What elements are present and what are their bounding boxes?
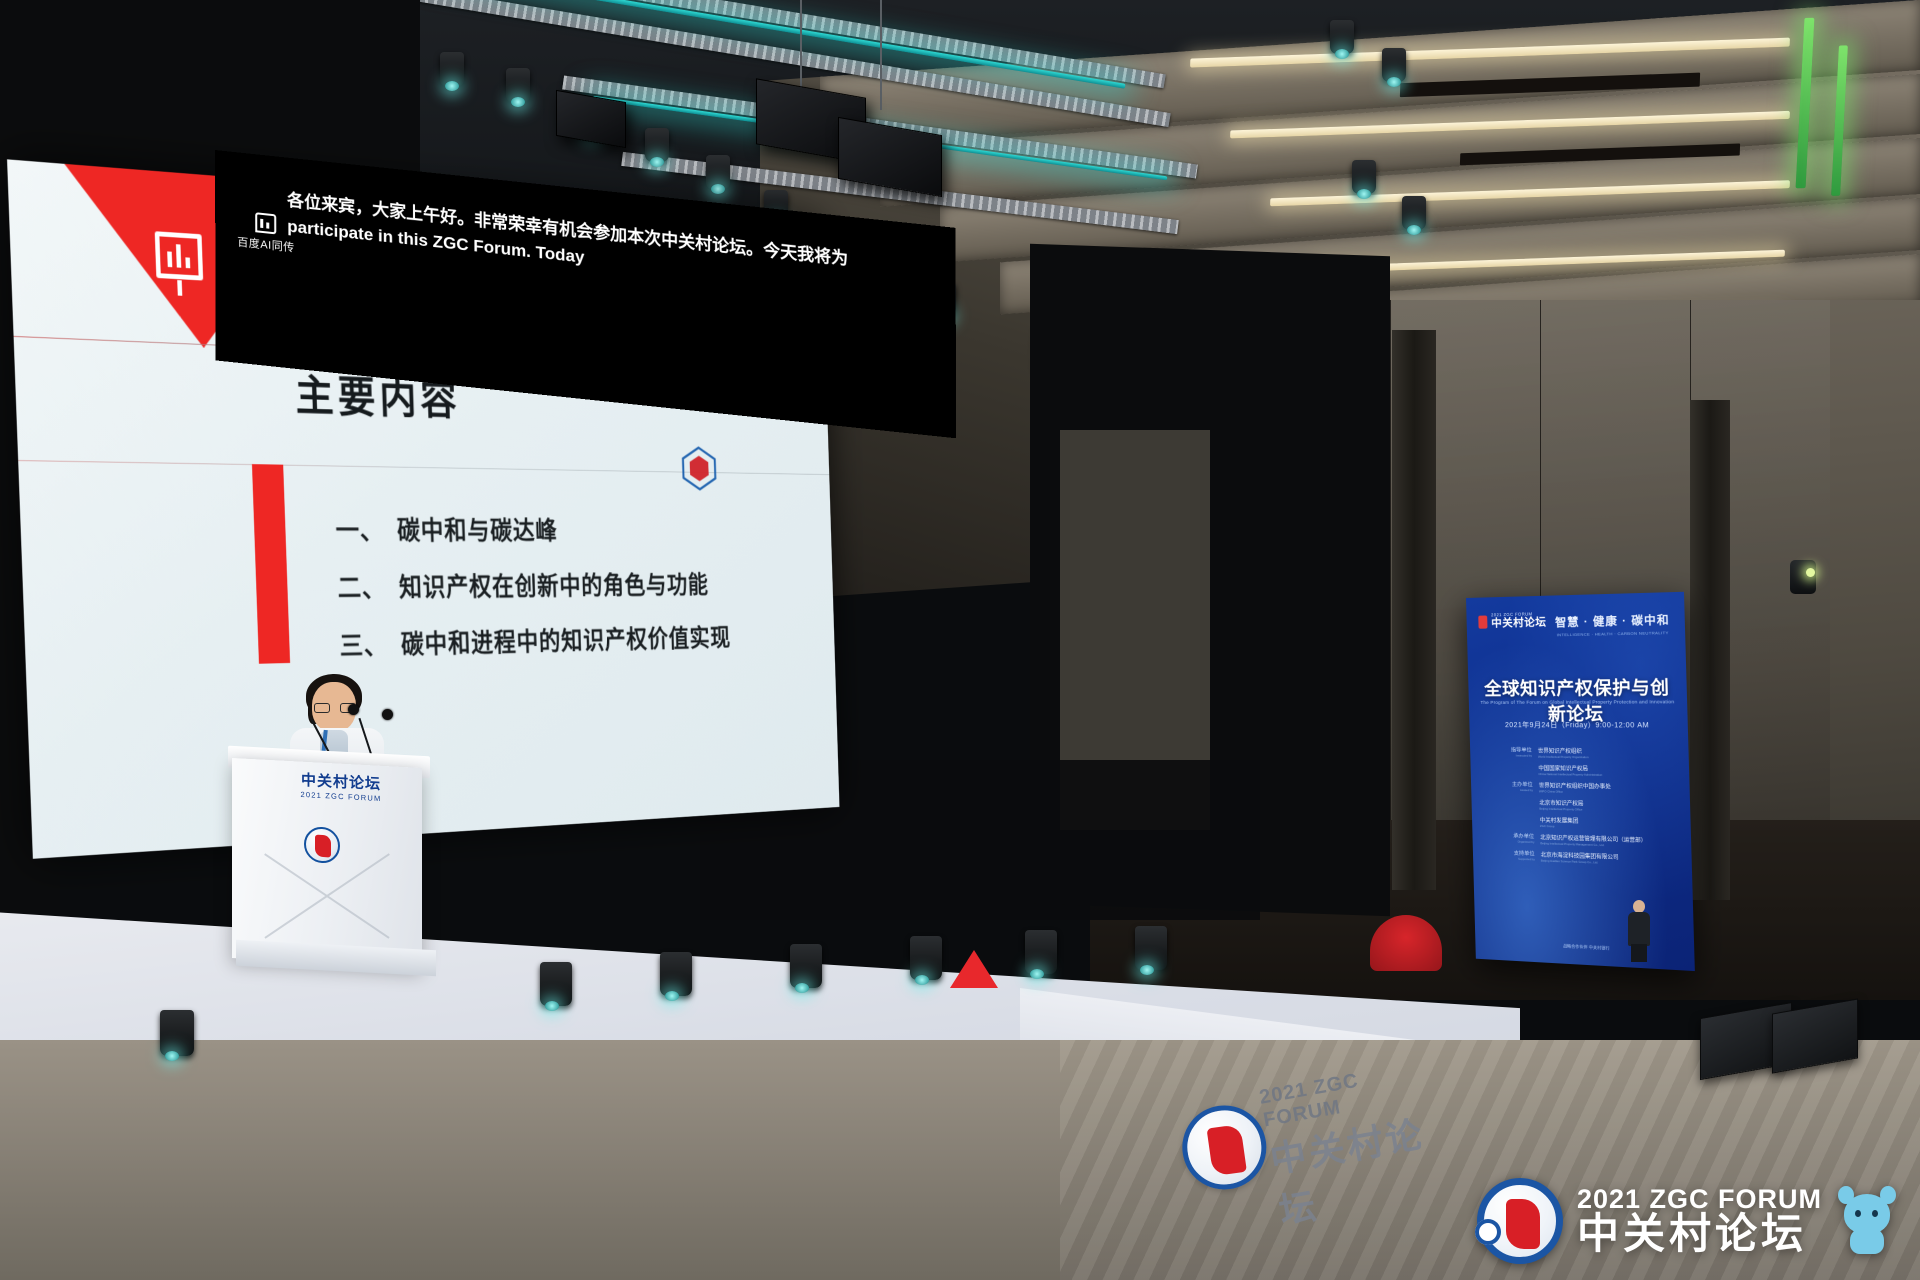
stage-light-fixture: [1402, 196, 1426, 230]
stage-light-fixture: [645, 128, 669, 162]
zgc-circle-logo: [1477, 1178, 1563, 1264]
cnipa-logo: [678, 446, 719, 491]
organizer-row: 指导单位 Instructed by 世界知识产权组织 World Intell…: [1498, 746, 1680, 760]
baidu-ai-brand: 百度AI同传: [237, 210, 295, 255]
moving-head-light: [790, 944, 822, 988]
list-item-text: 知识产权在创新中的角色与功能: [398, 566, 709, 604]
stage-light-fixture: [506, 68, 530, 102]
red-accent-bar: [252, 464, 290, 664]
speaker-hanging-wire: [800, 0, 802, 96]
lectern: 中关村论坛 2021 ZGC FORUM: [232, 745, 438, 985]
moving-head-light: [1025, 930, 1057, 974]
list-item-number: 一、: [335, 510, 385, 547]
moving-head-light: [160, 1010, 194, 1056]
lectern-logo: 中关村论坛 2021 ZGC FORUM: [272, 767, 410, 808]
moving-head-light: [910, 936, 942, 980]
lectern-x-decor: [252, 841, 402, 949]
list-item: 三、 碳中和进程中的知识产权价值实现: [339, 619, 731, 663]
list-item-number: 二、: [337, 568, 387, 606]
list-item: 二、 知识产权在创新中的角色与功能: [337, 566, 730, 605]
stage-light-fixture: [440, 52, 464, 86]
zgc-circle-logo: [1177, 1100, 1272, 1195]
stage-light-fixture: [706, 155, 730, 189]
organizer-role-en: Instructed by: [1498, 753, 1532, 757]
banner-slogan-cn: 智慧 · 健康 · 碳中和: [1555, 611, 1670, 630]
banner-slogan-en: INTELLIGENCE · HEALTH · CARBON NEUTRALIT…: [1555, 630, 1670, 637]
organizer-name-en: World Intellectual Property Organization: [1538, 755, 1589, 760]
moving-head-light: [540, 962, 572, 1006]
list-item: 一、 碳中和与碳达峰: [335, 510, 728, 547]
microphone-head: [348, 704, 359, 715]
list-item-text: 碳中和进程中的知识产权价值实现: [400, 619, 731, 662]
list-item-number: 三、: [339, 625, 389, 663]
conference-stage-photo: 主要内容 一、 碳中和与碳达峰 二、 知识产权在创新中的角色与功能 三、 碳中和…: [0, 0, 1920, 1280]
truss-tower-light: [1790, 560, 1816, 594]
banner-logo-mark-icon: [1478, 615, 1487, 628]
list-item-text: 碳中和与碳达峰: [396, 511, 558, 548]
baidu-ai-icon: [255, 212, 276, 234]
broadcast-watermark: 2021 ZGC FORUM 中关村论坛: [1477, 1178, 1898, 1264]
moving-head-light: [1135, 926, 1167, 970]
banner-slogan: 智慧 · 健康 · 碳中和 INTELLIGENCE · HEALTH · CA…: [1555, 611, 1670, 637]
watermark-cn: 中关村论坛: [1577, 1213, 1822, 1256]
microphone-head: [382, 709, 393, 720]
stage-light-fixture: [1330, 20, 1354, 54]
stage-light-fixture: [1352, 160, 1376, 194]
speaker-hanging-wire: [880, 0, 882, 110]
banner-headline-en: The Program of The Forum on Global Intel…: [1479, 699, 1677, 705]
slide-agenda-list: 一、 碳中和与碳达峰 二、 知识产权在创新中的角色与功能 三、 碳中和进程中的知…: [335, 510, 731, 663]
watermark-en: 2021 ZGC FORUM: [1577, 1186, 1822, 1214]
banner-date: 2021年9月24日（Friday）9:00-12:00 AM: [1479, 720, 1677, 731]
baidu-ai-brand-label: 百度AI同传: [237, 233, 294, 255]
stage-light-fixture: [1382, 48, 1406, 82]
red-triangle-prop: [950, 950, 998, 988]
banner-logo: 2021 ZGC FORUM 中关村论坛: [1478, 612, 1546, 630]
banner-logo-cn: 中关村论坛: [1491, 617, 1546, 630]
zgc-mascot-icon: [1836, 1186, 1898, 1256]
presentation-board-icon: [155, 231, 203, 280]
moving-head-light: [660, 952, 692, 996]
